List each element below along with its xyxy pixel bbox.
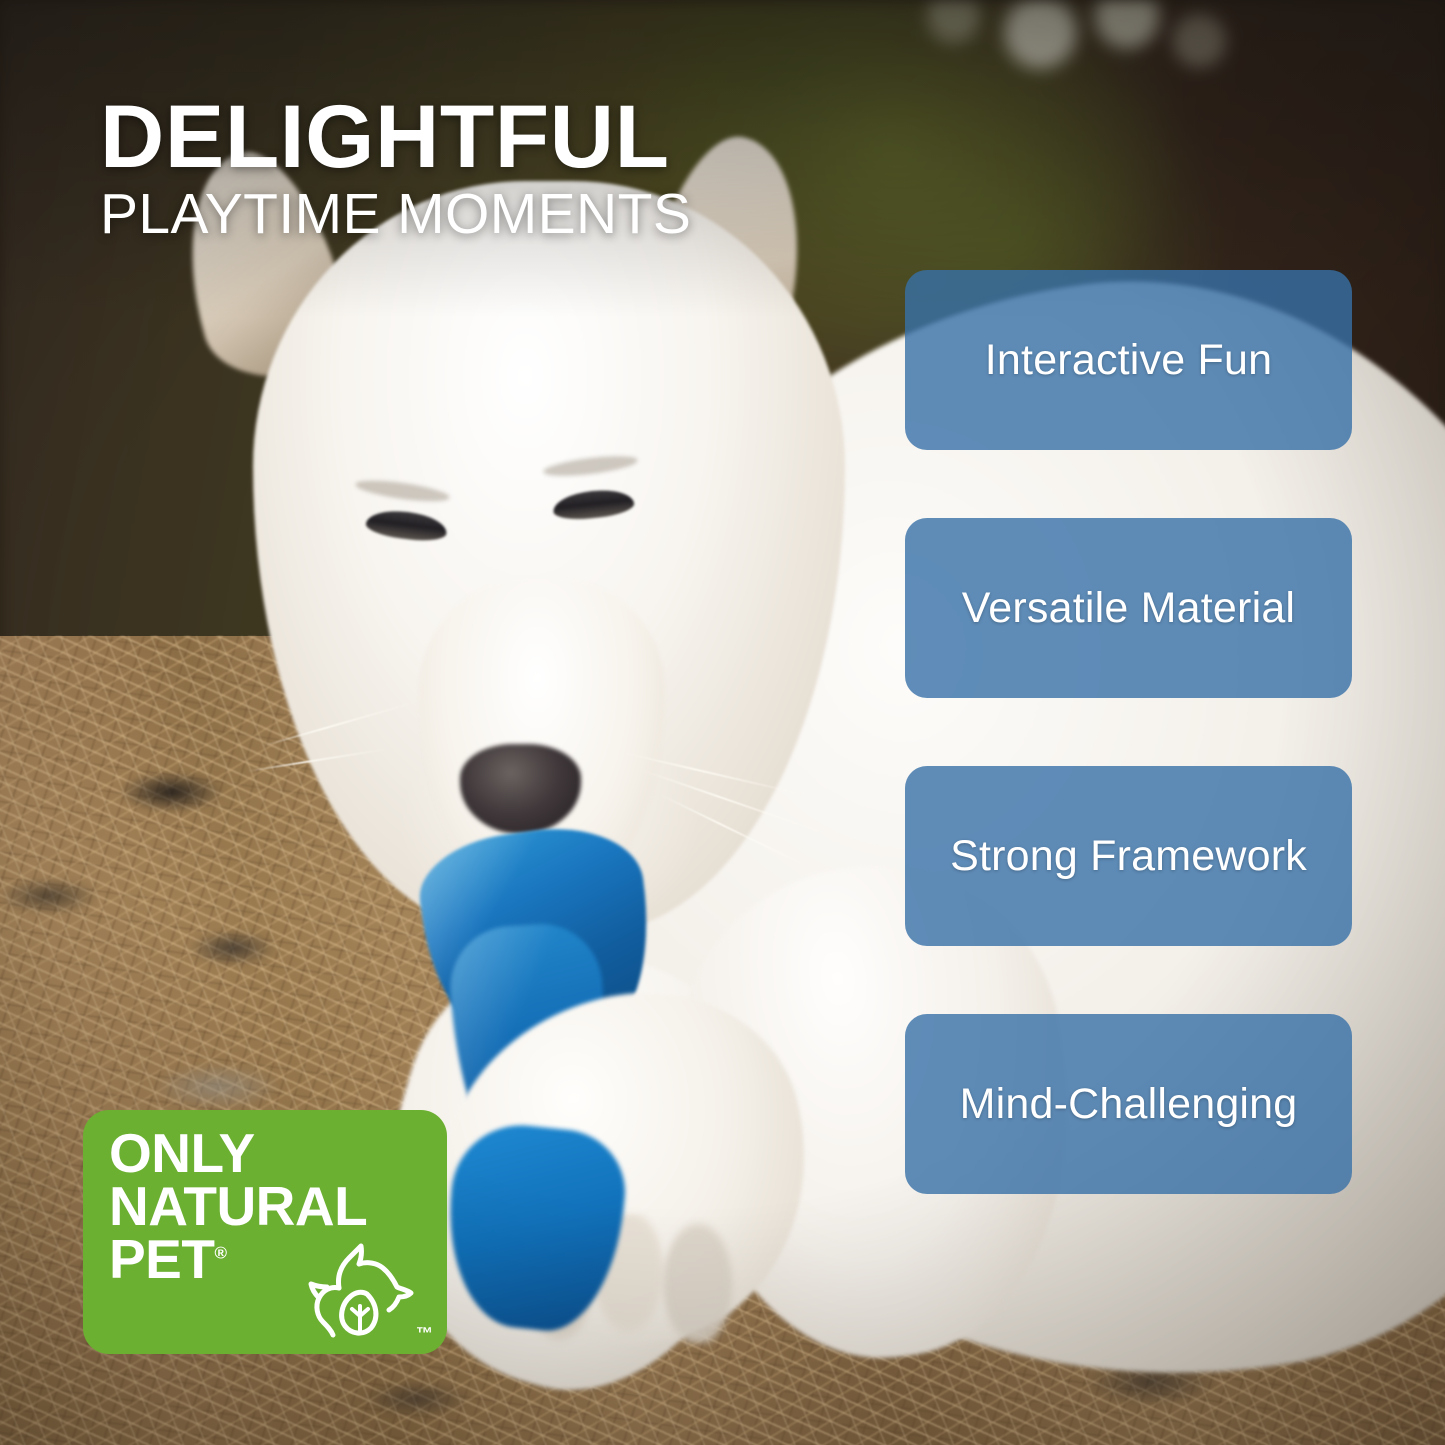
feature-badge-label: Versatile Material <box>962 584 1295 633</box>
feature-badge-interactive-fun[interactable]: Interactive Fun <box>905 270 1352 450</box>
feature-badge-label: Interactive Fun <box>985 336 1272 385</box>
feature-badge-label: Mind-Challenging <box>960 1080 1298 1129</box>
product-lifestyle-image: DELIGHTFUL PLAYTIME MOMENTS Interactive … <box>0 0 1445 1445</box>
registered-trademark-symbol: ® <box>214 1243 226 1262</box>
feature-badge-strong-framework[interactable]: Strong Framework <box>905 766 1352 946</box>
feature-badge-versatile-material[interactable]: Versatile Material <box>905 518 1352 698</box>
brand-logo-line-1: ONLY <box>109 1127 367 1180</box>
trademark-symbol: ™ <box>416 1324 433 1344</box>
headline: DELIGHTFUL PLAYTIME MOMENTS <box>100 96 691 245</box>
brand-logo-line-2: NATURAL <box>109 1180 367 1233</box>
headline-line-1: DELIGHTFUL <box>100 96 691 178</box>
feature-badge-mind-challenging[interactable]: Mind-Challenging <box>905 1014 1352 1194</box>
brand-logo[interactable]: ONLY NATURAL PET® ™ <box>83 1110 447 1354</box>
dog-cat-leaf-logo-icon <box>281 1232 429 1344</box>
feature-badge-list: Interactive Fun Versatile Material Stron… <box>905 270 1352 1194</box>
headline-line-2: PLAYTIME MOMENTS <box>100 184 691 246</box>
brand-logo-line-3-text: PET <box>109 1228 214 1290</box>
feature-badge-label: Strong Framework <box>950 832 1307 881</box>
